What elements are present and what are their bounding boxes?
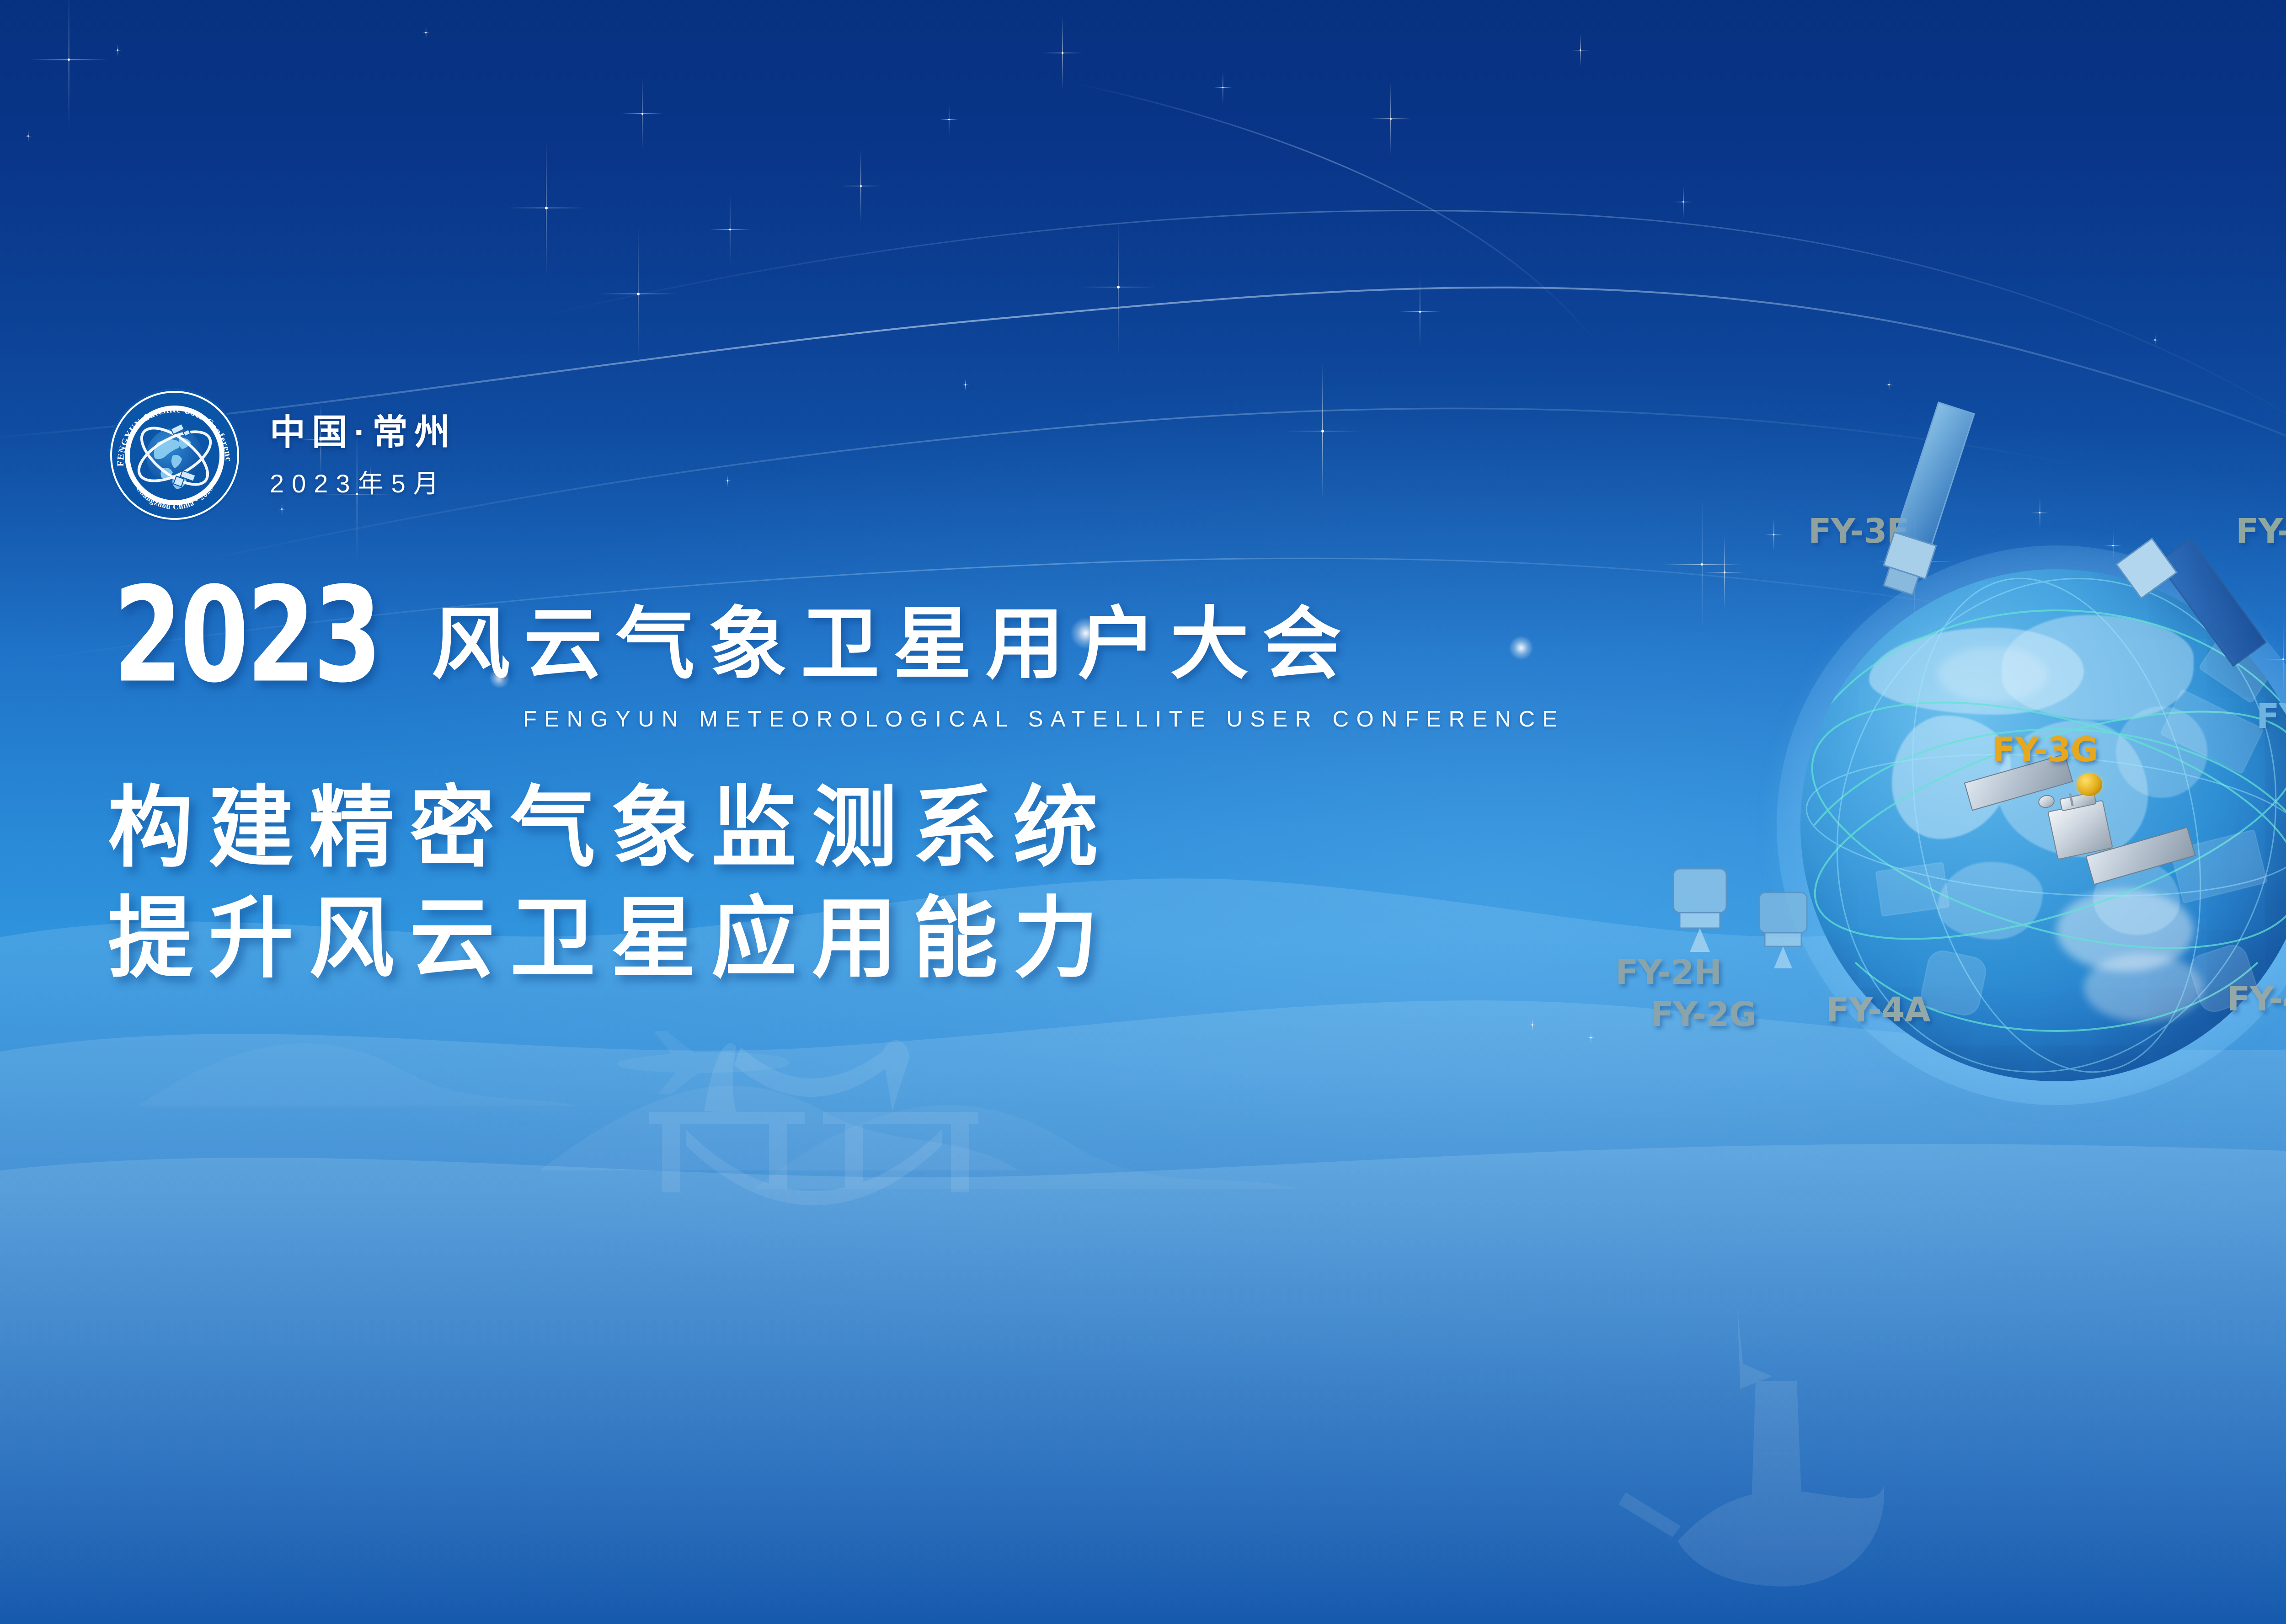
conference-title-block: 2023 风云气象卫星用户大会 FENGYUN METEOROLOGICAL S… <box>113 595 1741 732</box>
conference-slogan: 构建精密气象监测系统 提升风云卫星应用能力 <box>108 771 1114 992</box>
fy-3g-antenna-dish <box>2077 773 2102 796</box>
title-chinese: 风云气象卫星用户大会 <box>431 605 1355 690</box>
slogan-line-2: 提升风云卫星应用能力 <box>108 881 1114 996</box>
header-identity-block: FENGYUN Satellite User Conference Changz… <box>106 387 456 524</box>
background-bottom-shade <box>0 1072 2286 1624</box>
satellite-label-fy-3g: FY-3G <box>1992 733 2098 767</box>
conference-poster: FENGYUN Satellite User Conference Changz… <box>0 0 2286 1624</box>
ghost-satellite-1 <box>1875 862 1950 917</box>
satellite-label-fy-2h: FY-2H <box>1615 956 1721 989</box>
slogan-line-1: 构建精密气象监测系统 <box>108 771 1114 886</box>
fy-3g-spacecraft <box>1980 751 2176 902</box>
satellite-label-fy-3e: FY-3E <box>1808 514 1909 548</box>
title-english: FENGYUN METEOROLOGICAL SATELLITE USER CO… <box>523 706 1741 732</box>
event-location-block: 中国·常州 2023年5月 <box>270 411 456 501</box>
event-date: 2023年5月 <box>270 463 456 500</box>
title-year: 2023 <box>113 582 380 690</box>
conference-emblem-logo: FENGYUN Satellite User Conference Changz… <box>106 387 243 524</box>
satellite-label-fy-3d: FY-3D <box>2256 700 2286 733</box>
satellite-label-fy-4a: FY-4A <box>1826 993 1930 1027</box>
event-location: 中国·常州 <box>270 414 456 451</box>
satellite-label-fy-3c: FY-3C <box>2236 514 2286 548</box>
satellite-label-fy-2g: FY-2G <box>1650 998 1756 1031</box>
satellite-label-fy-4b: FY-4B <box>2227 982 2286 1016</box>
